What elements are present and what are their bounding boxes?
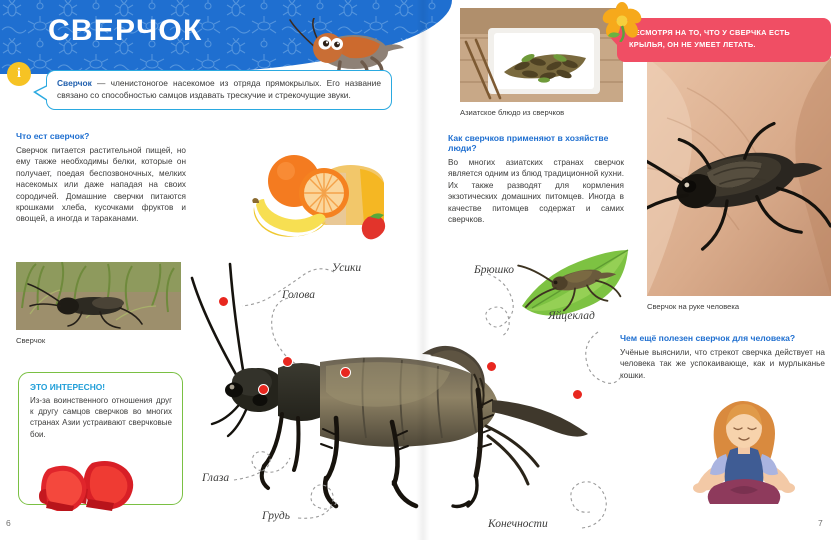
intro-lead: Сверчок <box>57 78 92 88</box>
intro-speech-bubble: Сверчок — членистоногое насекомое из отр… <box>46 70 392 110</box>
cricket-in-grass-photo <box>16 262 181 330</box>
fruit-and-bread-illustration <box>250 145 420 250</box>
asian-cricket-dish-photo <box>460 8 623 102</box>
section-heading: Чем ещё полезен сверчок для человека? <box>620 333 825 343</box>
section-body: Сверчок питается растительной пищей, но … <box>16 145 186 225</box>
page-number-right: 7 <box>818 518 823 528</box>
intro-text: — членистоногое насекомое из отряда прям… <box>57 78 381 100</box>
boxing-gloves-icon <box>38 455 142 511</box>
pink-callout-text: НЕСМОТРЯ НА ТО, ЧТО У СВЕРЧКА ЕСТЬ КРЫЛЬ… <box>617 18 831 50</box>
section-heading: Что ест сверчок? <box>16 131 186 141</box>
anatomy-label-grud: Грудь <box>262 510 290 522</box>
anatomy-label-golova: Голова <box>282 289 315 301</box>
cricket-on-human-hand-photo <box>647 58 831 296</box>
info-icon: i <box>7 62 31 86</box>
anatomy-label-glaza: Глаза <box>202 472 229 484</box>
anatomy-label-konechnosti: Конечности <box>488 518 548 530</box>
page-title: СВЕРЧОК <box>48 14 202 48</box>
anatomy-label-bryushko: Брюшко <box>474 264 514 276</box>
section-body: Учёные выяснили, что стрекот сверчка дей… <box>620 347 825 381</box>
cricket-anatomy-diagram: Усики Голова Брюшко Яйцеклад Глаза Грудь… <box>186 250 626 535</box>
anatomy-dot-bryushko <box>486 361 497 372</box>
anatomy-label-yaytseklad: Яйцеклад <box>548 310 595 322</box>
section-how-people-use-crickets: Как сверчков применяют в хозяйстве люди?… <box>448 133 624 225</box>
anatomy-dot-glaza <box>258 384 269 395</box>
section-body: Во многих азиатских странах сверчок явля… <box>448 157 624 225</box>
pink-callout: НЕСМОТРЯ НА ТО, ЧТО У СВЕРЧКА ЕСТЬ КРЫЛЬ… <box>617 18 831 62</box>
cricket-photo <box>186 250 626 535</box>
meditating-woman-illustration <box>686 392 802 510</box>
photo-caption: Азиатское блюдо из сверчков <box>460 108 564 117</box>
section-how-crickets-help-people: Чем ещё полезен сверчок для человека? Уч… <box>620 333 825 381</box>
info-glyph: i <box>7 62 31 86</box>
photo-caption: Сверчок <box>16 336 45 345</box>
page-number-left: 6 <box>6 518 11 528</box>
fact-box-body: Из-за воинственного отношения друг к дру… <box>19 395 182 440</box>
section-heading: Как сверчков применяют в хозяйстве люди? <box>448 133 624 153</box>
flower-icon <box>600 2 644 42</box>
anatomy-dot-usiki <box>218 296 229 307</box>
section-what-cricket-eats: Что ест сверчок? Сверчок питается растит… <box>16 131 186 225</box>
anatomy-dot-grud <box>340 367 351 378</box>
magazine-spread: СВЕРЧОК i Сверчок — членистоногое насеко… <box>0 0 838 540</box>
anatomy-dot-golova <box>282 356 293 367</box>
anatomy-label-usiki: Усики <box>332 262 361 274</box>
anatomy-dot-yaytseklad <box>572 389 583 400</box>
photo-caption: Сверчок на руке человека <box>647 302 739 311</box>
fact-box-heading: ЭТО ИНТЕРЕСНО! <box>19 373 182 395</box>
